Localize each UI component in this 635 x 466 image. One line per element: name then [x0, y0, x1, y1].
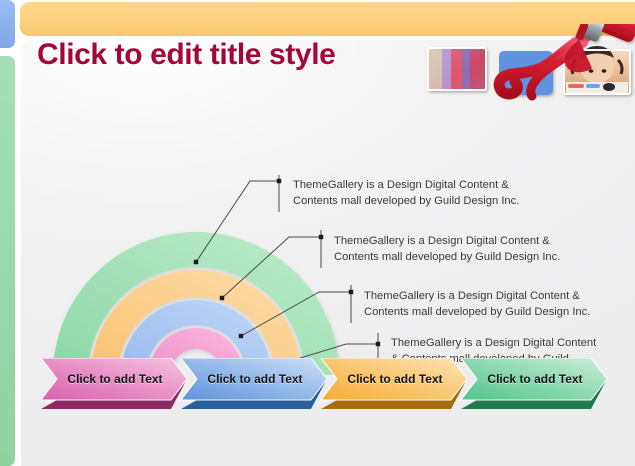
callout-text-3: ThemeGallery is a Design Digital Content…	[364, 289, 590, 320]
callout-text-2: ThemeGallery is a Design Digital Content…	[334, 234, 560, 265]
chevron-label-1[interactable]: Click to add Text	[57, 372, 173, 386]
left-accent-strip-green	[0, 56, 15, 466]
callout-leader-2	[220, 230, 323, 300]
chevron-label-2[interactable]: Click to add Text	[197, 372, 313, 386]
top-orange-banner	[20, 2, 635, 36]
left-accent-tab-blue	[0, 0, 15, 48]
callout-text-1: ThemeGallery is a Design Digital Content…	[293, 178, 519, 209]
slide-content-panel: Click to edit title style	[21, 40, 635, 466]
callout-leader-3	[239, 285, 353, 338]
chevron-label-3[interactable]: Click to add Text	[337, 372, 453, 386]
chevron-button-row	[41, 358, 635, 414]
chevron-label-4[interactable]: Click to add Text	[477, 372, 593, 386]
callout-leader-1	[194, 175, 281, 264]
